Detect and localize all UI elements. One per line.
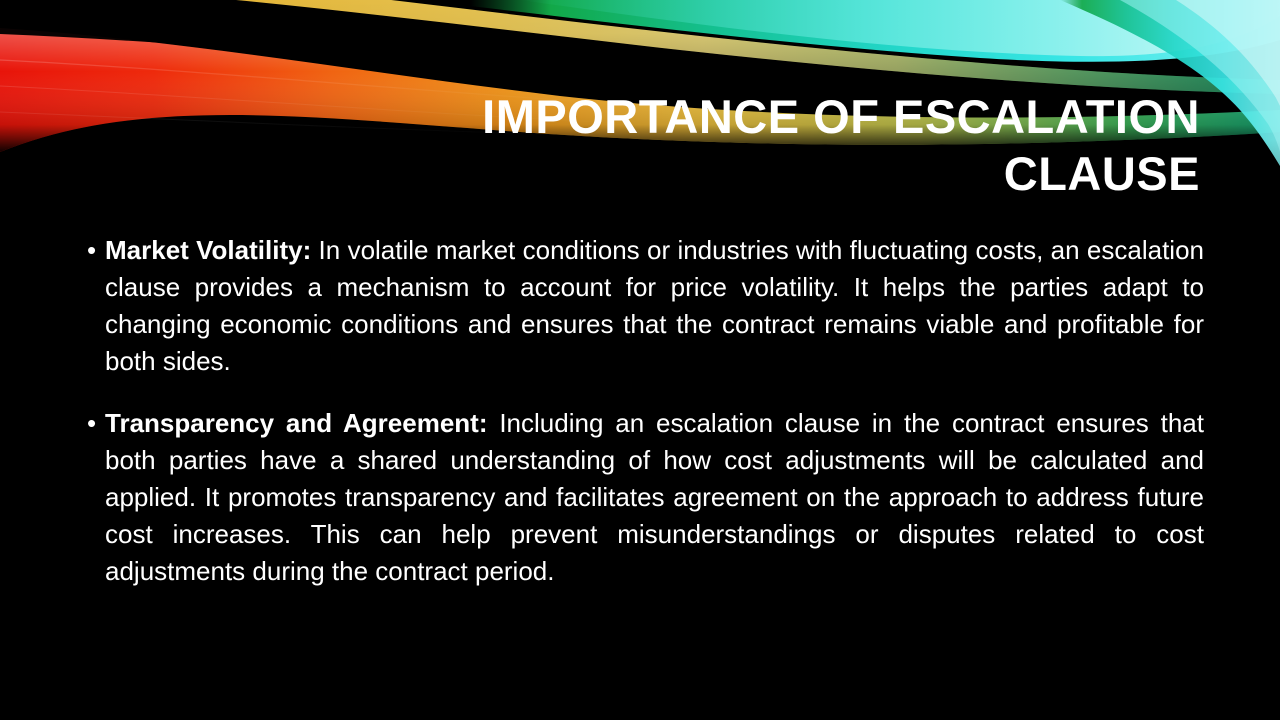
warm-upper-wave bbox=[0, 0, 1280, 94]
bullet-marker-icon: • bbox=[80, 232, 105, 269]
slide-body: • Market Volatility: In volatile market … bbox=[80, 232, 1204, 590]
cool-wave bbox=[470, 0, 1280, 62]
presentation-slide: IMPORTANCE OF ESCALATION CLAUSE • Market… bbox=[0, 0, 1280, 720]
bullet-text: Market Volatility: In volatile market co… bbox=[105, 232, 1204, 380]
bullet-item: • Market Volatility: In volatile market … bbox=[80, 232, 1204, 380]
bullet-item: • Transparency and Agreement: Including … bbox=[80, 405, 1204, 590]
bullet-lead-label: Transparency and Agreement: bbox=[105, 408, 488, 438]
slide-title-line-1: IMPORTANCE OF ESCALATION bbox=[80, 88, 1200, 145]
slide-title-line-2: CLAUSE bbox=[80, 145, 1200, 202]
cool-wave-highlight bbox=[520, 0, 1280, 56]
slide-title: IMPORTANCE OF ESCALATION CLAUSE bbox=[80, 88, 1200, 202]
bullet-marker-icon: • bbox=[80, 405, 105, 442]
bullet-text: Transparency and Agreement: Including an… bbox=[105, 405, 1204, 590]
bullet-lead-label: Market Volatility: bbox=[105, 235, 311, 265]
